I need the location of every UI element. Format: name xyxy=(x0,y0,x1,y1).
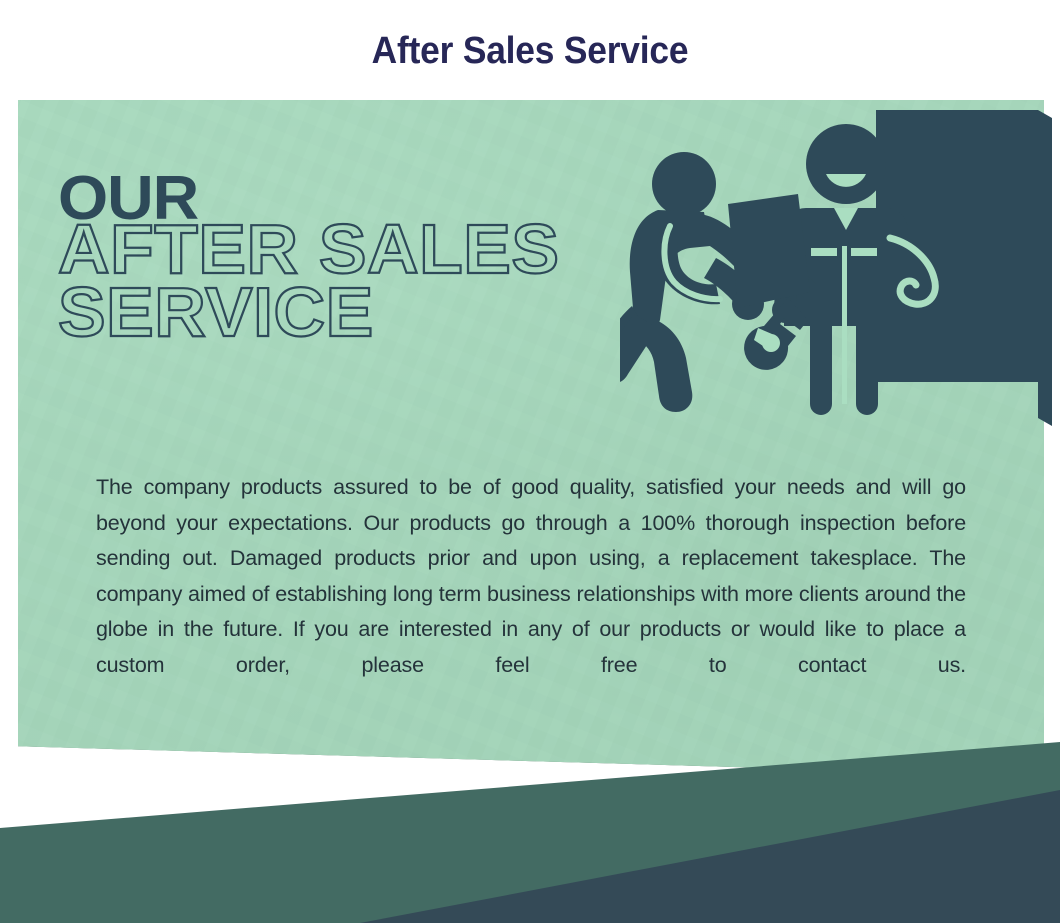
delivery-and-technician-illustration xyxy=(620,96,1060,441)
slide: After Sales Service OUR AFTER SALES SERV… xyxy=(0,0,1060,923)
body-paragraph: The company products assured to be of go… xyxy=(96,470,966,719)
illustration xyxy=(620,96,1060,441)
headline-block: OUR AFTER SALES SERVICE xyxy=(58,172,678,342)
headline-line-service: SERVICE xyxy=(58,282,690,342)
page-title: After Sales Service xyxy=(37,30,1023,73)
headline-line-after-sales: AFTER SALES xyxy=(58,219,690,279)
cardboard-box-icon xyxy=(728,194,810,308)
